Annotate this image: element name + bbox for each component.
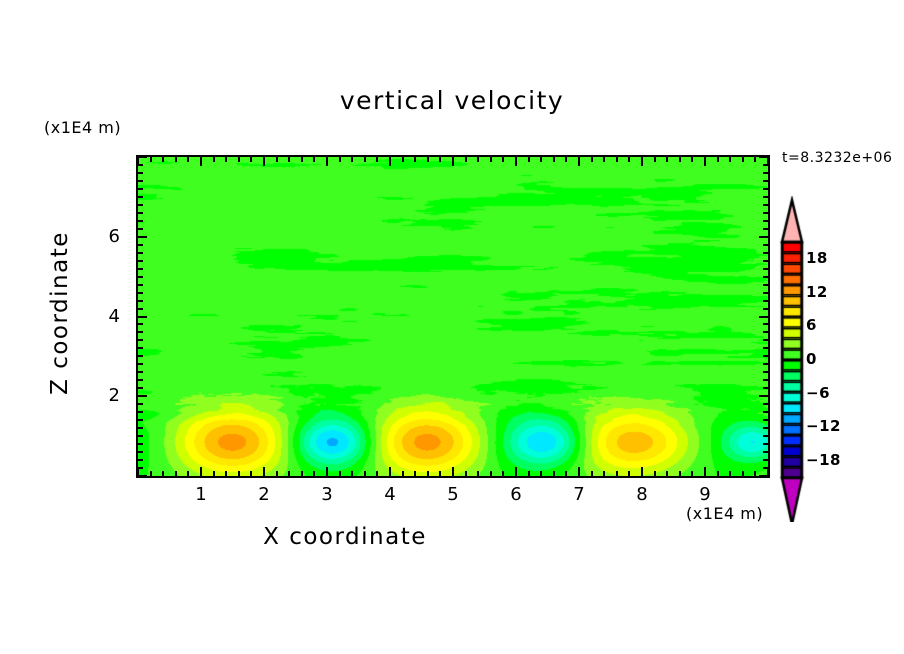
y-tick bbox=[138, 331, 143, 333]
colorbar-tick-label: −12 bbox=[806, 417, 850, 435]
y-tick-right bbox=[763, 467, 768, 469]
y-tick-right bbox=[763, 347, 768, 349]
y-tick bbox=[138, 443, 143, 445]
y-tick-right bbox=[763, 188, 768, 190]
x-tick-top bbox=[540, 157, 542, 162]
x-tick-label: 9 bbox=[685, 484, 725, 505]
x-tick-top bbox=[376, 157, 378, 162]
x-tick bbox=[528, 471, 530, 476]
colorbar-tick-label: −6 bbox=[806, 384, 850, 402]
y-tick bbox=[138, 475, 147, 477]
y-tick-right bbox=[763, 411, 768, 413]
y-tick-right bbox=[763, 379, 768, 381]
x-tick-top bbox=[250, 157, 252, 162]
x-tick bbox=[225, 471, 227, 476]
x-tick bbox=[666, 471, 668, 476]
y-tick bbox=[138, 347, 143, 349]
x-tick bbox=[502, 471, 504, 476]
x-tick-top bbox=[528, 157, 530, 162]
contour-plot-area bbox=[136, 155, 770, 478]
x-tick bbox=[565, 471, 567, 476]
x-tick-top bbox=[351, 157, 353, 162]
y-tick-right bbox=[763, 284, 768, 286]
x-tick-top bbox=[225, 157, 227, 162]
x-tick bbox=[641, 467, 643, 476]
x-tick bbox=[238, 471, 240, 476]
y-tick-label: 2 bbox=[86, 385, 120, 406]
x-tick-top bbox=[742, 157, 744, 162]
y-tick-right bbox=[763, 220, 768, 222]
y-tick bbox=[138, 427, 143, 429]
x-tick bbox=[250, 471, 252, 476]
y-tick-right bbox=[763, 371, 768, 373]
y-tick bbox=[138, 411, 143, 413]
x-tick-top bbox=[402, 157, 404, 162]
x-tick-label: 6 bbox=[496, 484, 536, 505]
y-tick bbox=[138, 172, 143, 174]
x-tick bbox=[364, 471, 366, 476]
x-tick-top bbox=[238, 157, 240, 162]
x-tick bbox=[452, 467, 454, 476]
x-tick-top bbox=[213, 157, 215, 162]
x-tick bbox=[717, 471, 719, 476]
x-tick-top bbox=[729, 157, 731, 162]
x-tick-top bbox=[578, 157, 580, 166]
y-tick-right bbox=[763, 403, 768, 405]
y-tick-right bbox=[763, 308, 768, 310]
y-tick-label: 4 bbox=[86, 306, 120, 327]
x-tick-top bbox=[326, 157, 328, 166]
x-tick-top bbox=[150, 157, 152, 162]
y-tick-right bbox=[759, 395, 768, 397]
y-tick bbox=[138, 188, 143, 190]
y-tick-right bbox=[763, 276, 768, 278]
x-tick-top bbox=[641, 157, 643, 166]
x-tick bbox=[288, 471, 290, 476]
y-tick bbox=[138, 371, 143, 373]
x-tick-top bbox=[313, 157, 315, 162]
y-tick-right bbox=[763, 427, 768, 429]
x-tick-top bbox=[452, 157, 454, 166]
x-tick bbox=[187, 471, 189, 476]
x-tick-top bbox=[414, 157, 416, 162]
x-tick bbox=[691, 471, 693, 476]
x-tick-top bbox=[654, 157, 656, 162]
x-tick-top bbox=[301, 157, 303, 162]
timestamp-label: t=8.3232e+06 bbox=[782, 150, 892, 166]
x-tick-top bbox=[439, 157, 441, 162]
y-tick bbox=[138, 308, 143, 310]
x-tick-top bbox=[339, 157, 341, 162]
x-tick-top bbox=[628, 157, 630, 162]
colorbar-tick-label: 0 bbox=[806, 350, 850, 368]
x-tick-top bbox=[389, 157, 391, 166]
y-tick bbox=[138, 451, 143, 453]
x-tick-label: 5 bbox=[433, 484, 473, 505]
y-tick bbox=[138, 164, 143, 166]
x-tick bbox=[603, 471, 605, 476]
x-tick-top bbox=[515, 157, 517, 166]
y-tick bbox=[138, 435, 143, 437]
x-tick-top bbox=[679, 157, 681, 162]
y-tick-right bbox=[759, 236, 768, 238]
x-tick-top bbox=[666, 157, 668, 162]
x-tick-top bbox=[263, 157, 265, 166]
x-tick bbox=[477, 471, 479, 476]
x-tick-label: 4 bbox=[370, 484, 410, 505]
x-tick bbox=[439, 471, 441, 476]
x-tick bbox=[402, 471, 404, 476]
y-tick-label: 6 bbox=[86, 226, 120, 247]
x-tick bbox=[313, 471, 315, 476]
x-tick bbox=[616, 471, 618, 476]
y-tick bbox=[138, 236, 147, 238]
y-tick-right bbox=[763, 443, 768, 445]
colorbar-tick-label: 6 bbox=[806, 316, 850, 334]
colorbar-tick-label: −18 bbox=[806, 451, 850, 469]
y-tick-right bbox=[759, 475, 768, 477]
x-tick-top bbox=[717, 157, 719, 162]
y-tick-right bbox=[763, 300, 768, 302]
y-tick bbox=[138, 228, 143, 230]
x-tick-top bbox=[691, 157, 693, 162]
x-tick bbox=[578, 467, 580, 476]
x-axis-title: X coordinate bbox=[0, 524, 690, 550]
x-tick bbox=[754, 471, 756, 476]
y-tick bbox=[138, 292, 143, 294]
y-tick-right bbox=[763, 180, 768, 182]
x-tick-top bbox=[477, 157, 479, 162]
x-tick bbox=[553, 471, 555, 476]
y-tick bbox=[138, 204, 143, 206]
y-tick bbox=[138, 276, 143, 278]
x-tick-top bbox=[465, 157, 467, 162]
colorbar: 181260−6−12−18 bbox=[770, 196, 830, 522]
y-tick bbox=[138, 316, 147, 318]
x-axis-unit-label: (x1E4 m) bbox=[686, 504, 763, 523]
x-tick bbox=[150, 471, 152, 476]
x-tick bbox=[679, 471, 681, 476]
y-tick bbox=[138, 260, 143, 262]
x-tick bbox=[540, 471, 542, 476]
y-tick-right bbox=[763, 435, 768, 437]
x-tick bbox=[339, 471, 341, 476]
y-tick bbox=[138, 196, 143, 198]
y-tick bbox=[138, 268, 143, 270]
x-tick-top bbox=[276, 157, 278, 162]
y-tick bbox=[138, 395, 147, 397]
x-tick-top bbox=[565, 157, 567, 162]
y-tick bbox=[138, 355, 143, 357]
x-tick-top bbox=[553, 157, 555, 162]
y-tick-right bbox=[763, 363, 768, 365]
y-tick-right bbox=[763, 268, 768, 270]
x-tick bbox=[175, 471, 177, 476]
x-tick-top bbox=[754, 157, 756, 162]
x-tick bbox=[742, 471, 744, 476]
vertical-velocity-field bbox=[138, 157, 768, 476]
x-tick-top bbox=[502, 157, 504, 162]
x-tick bbox=[591, 471, 593, 476]
x-tick-label: 1 bbox=[181, 484, 221, 505]
x-tick-top bbox=[288, 157, 290, 162]
x-tick-top bbox=[603, 157, 605, 162]
y-tick-right bbox=[763, 252, 768, 254]
y-tick-right bbox=[763, 244, 768, 246]
x-tick bbox=[263, 467, 265, 476]
x-tick bbox=[628, 471, 630, 476]
y-tick-right bbox=[759, 316, 768, 318]
x-tick bbox=[389, 467, 391, 476]
x-tick bbox=[276, 471, 278, 476]
y-tick-right bbox=[763, 292, 768, 294]
x-tick-label: 7 bbox=[559, 484, 599, 505]
x-tick bbox=[515, 467, 517, 476]
x-tick-top bbox=[591, 157, 593, 162]
x-tick bbox=[704, 467, 706, 476]
x-tick bbox=[654, 471, 656, 476]
x-tick-label: 8 bbox=[622, 484, 662, 505]
x-tick-top bbox=[616, 157, 618, 162]
y-tick-right bbox=[759, 156, 768, 158]
x-tick bbox=[414, 471, 416, 476]
x-tick bbox=[213, 471, 215, 476]
y-tick-right bbox=[763, 451, 768, 453]
y-tick bbox=[138, 156, 147, 158]
y-tick-right bbox=[763, 323, 768, 325]
y-tick-right bbox=[763, 204, 768, 206]
y-tick-right bbox=[763, 419, 768, 421]
y-tick bbox=[138, 467, 143, 469]
y-tick-right bbox=[763, 172, 768, 174]
x-tick bbox=[200, 467, 202, 476]
x-tick bbox=[729, 471, 731, 476]
x-tick-top bbox=[490, 157, 492, 162]
y-tick-right bbox=[763, 387, 768, 389]
x-tick bbox=[301, 471, 303, 476]
x-tick bbox=[376, 471, 378, 476]
y-tick bbox=[138, 244, 143, 246]
x-tick-top bbox=[200, 157, 202, 166]
y-tick bbox=[138, 339, 143, 341]
y-tick-right bbox=[763, 164, 768, 166]
y-tick bbox=[138, 252, 143, 254]
y-tick bbox=[138, 403, 143, 405]
x-tick-top bbox=[175, 157, 177, 162]
y-tick bbox=[138, 387, 143, 389]
y-tick-right bbox=[763, 355, 768, 357]
y-tick-right bbox=[763, 228, 768, 230]
x-tick-label: 2 bbox=[244, 484, 284, 505]
y-tick bbox=[138, 220, 143, 222]
x-tick-top bbox=[704, 157, 706, 166]
colorbar-tick-label: 18 bbox=[806, 249, 850, 267]
y-tick-right bbox=[763, 212, 768, 214]
y-axis-title: Z coordinate bbox=[47, 213, 73, 413]
x-tick bbox=[490, 471, 492, 476]
y-tick-right bbox=[763, 196, 768, 198]
x-tick-top bbox=[162, 157, 164, 162]
z-axis-unit-label: (x1E4 m) bbox=[44, 118, 121, 137]
x-tick bbox=[427, 471, 429, 476]
y-tick bbox=[138, 300, 143, 302]
x-tick-label: 3 bbox=[307, 484, 347, 505]
y-tick bbox=[138, 212, 143, 214]
colorbar-tick-label: 12 bbox=[806, 283, 850, 301]
x-tick bbox=[162, 471, 164, 476]
x-tick bbox=[465, 471, 467, 476]
y-tick bbox=[138, 459, 143, 461]
y-tick-right bbox=[763, 339, 768, 341]
y-tick bbox=[138, 363, 143, 365]
y-tick bbox=[138, 180, 143, 182]
y-tick-right bbox=[763, 459, 768, 461]
y-tick-right bbox=[763, 260, 768, 262]
x-tick-top bbox=[427, 157, 429, 162]
x-tick-top bbox=[187, 157, 189, 162]
x-tick bbox=[351, 471, 353, 476]
y-tick bbox=[138, 323, 143, 325]
y-tick bbox=[138, 419, 143, 421]
x-tick-top bbox=[364, 157, 366, 162]
y-tick bbox=[138, 379, 143, 381]
page-title: vertical velocity bbox=[0, 86, 904, 115]
x-tick bbox=[326, 467, 328, 476]
y-tick bbox=[138, 284, 143, 286]
y-tick-right bbox=[763, 331, 768, 333]
